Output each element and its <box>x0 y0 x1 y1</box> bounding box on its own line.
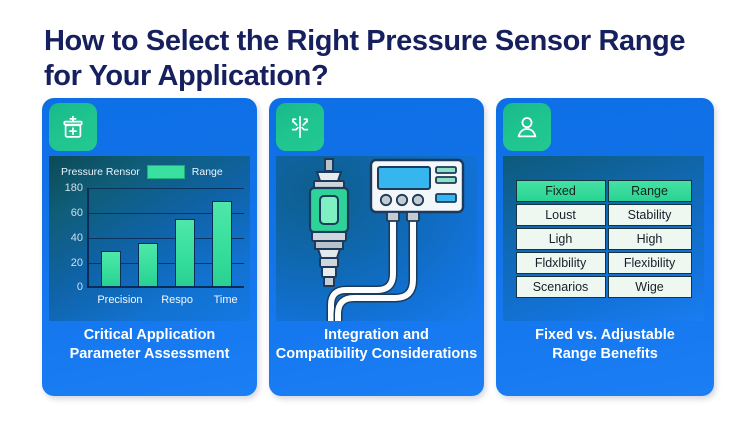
card-caption: Critical Application Parameter Assessmen… <box>48 326 251 364</box>
table-row: Ligh High <box>516 228 692 250</box>
legend-series-label: Pressure Rensor <box>61 166 140 178</box>
table-row: Fldxlbility Flexibility <box>516 252 692 274</box>
y-tick-label: 60 <box>71 207 83 219</box>
caption-line-1: Fixed vs. Adjustable <box>502 326 708 345</box>
legend-swatch-label: Range <box>192 166 223 178</box>
table-cell: Stability <box>608 204 692 226</box>
table-cell: Flexibility <box>608 252 692 274</box>
gridline: 0 <box>87 287 244 288</box>
card-fixed-vs-adjustable-range-benefits[interactable]: Fixed Range Loust Stability Ligh High Fl… <box>496 98 714 396</box>
x-tick-label: Time <box>214 294 238 306</box>
legend-color-swatch <box>147 165 185 179</box>
card-integration-and-compatibility-considerations[interactable]: Integration and Compatibility Considerat… <box>269 98 484 396</box>
branching-tree-icon <box>276 103 324 151</box>
chart-legend: Pressure Rensor Range <box>61 164 244 180</box>
table-row: Scenarios Wige <box>516 276 692 298</box>
pressure-sensor-and-readout-instrument-illustration <box>276 156 477 321</box>
infographic-slide: How to Select the Right Pressure Sensor … <box>0 0 750 422</box>
user-person-icon <box>503 103 551 151</box>
x-tick-label: Respo <box>161 294 193 306</box>
table-header-cell: Fixed <box>516 180 606 202</box>
comparison-table-panel: Fixed Range Loust Stability Ligh High Fl… <box>503 156 704 321</box>
caption-line-2: Range Benefits <box>502 345 708 364</box>
card-critical-application-parameter-assessment[interactable]: Pressure Rensor Range 180 60 40 <box>42 98 257 396</box>
y-tick-label: 0 <box>77 281 83 293</box>
chart-bar <box>101 251 121 286</box>
card-caption: Integration and Compatibility Considerat… <box>275 326 478 364</box>
table-cell: High <box>608 228 692 250</box>
caption-line-2: Compatibility Considerations <box>275 345 478 364</box>
bar-chart-panel: Pressure Rensor Range 180 60 40 <box>49 156 250 321</box>
sensor-illustration-panel <box>276 156 477 321</box>
chart-bar <box>175 219 195 286</box>
card-caption: Fixed vs. Adjustable Range Benefits <box>502 326 708 364</box>
y-tick-label: 20 <box>71 257 83 269</box>
table-cell: Scenarios <box>516 276 606 298</box>
table-cell: Ligh <box>516 228 606 250</box>
table-cell: Wige <box>608 276 692 298</box>
caption-line-2: Parameter Assessment <box>48 345 251 364</box>
y-tick-label: 180 <box>65 182 83 194</box>
table-cell: Loust <box>516 204 606 226</box>
title-line-1: How to Select the Right Pressure Sensor … <box>44 24 704 59</box>
table-row: Loust Stability <box>516 204 692 226</box>
table-header-cell: Range <box>608 180 692 202</box>
table-header-row: Fixed Range <box>516 180 692 202</box>
chart-bars <box>93 188 240 286</box>
y-tick-label: 40 <box>71 232 83 244</box>
title-line-2: for Your Application? <box>44 59 704 94</box>
chart-bar <box>212 201 232 286</box>
comparison-table: Fixed Range Loust Stability Ligh High Fl… <box>514 178 694 300</box>
page-title: How to Select the Right Pressure Sensor … <box>44 24 704 95</box>
x-axis-labels: Precision Respo Time <box>87 292 248 308</box>
first-aid-kit-icon <box>49 103 97 151</box>
caption-line-1: Integration and <box>275 326 478 345</box>
caption-line-1: Critical Application <box>48 326 251 345</box>
chart-plot-area: 180 60 40 20 0 <box>59 188 244 288</box>
card-row: Pressure Rensor Range 180 60 40 <box>42 98 710 396</box>
x-tick-label: Precision <box>97 294 142 306</box>
table-cell: Fldxlbility <box>516 252 606 274</box>
chart-bar <box>138 243 158 286</box>
